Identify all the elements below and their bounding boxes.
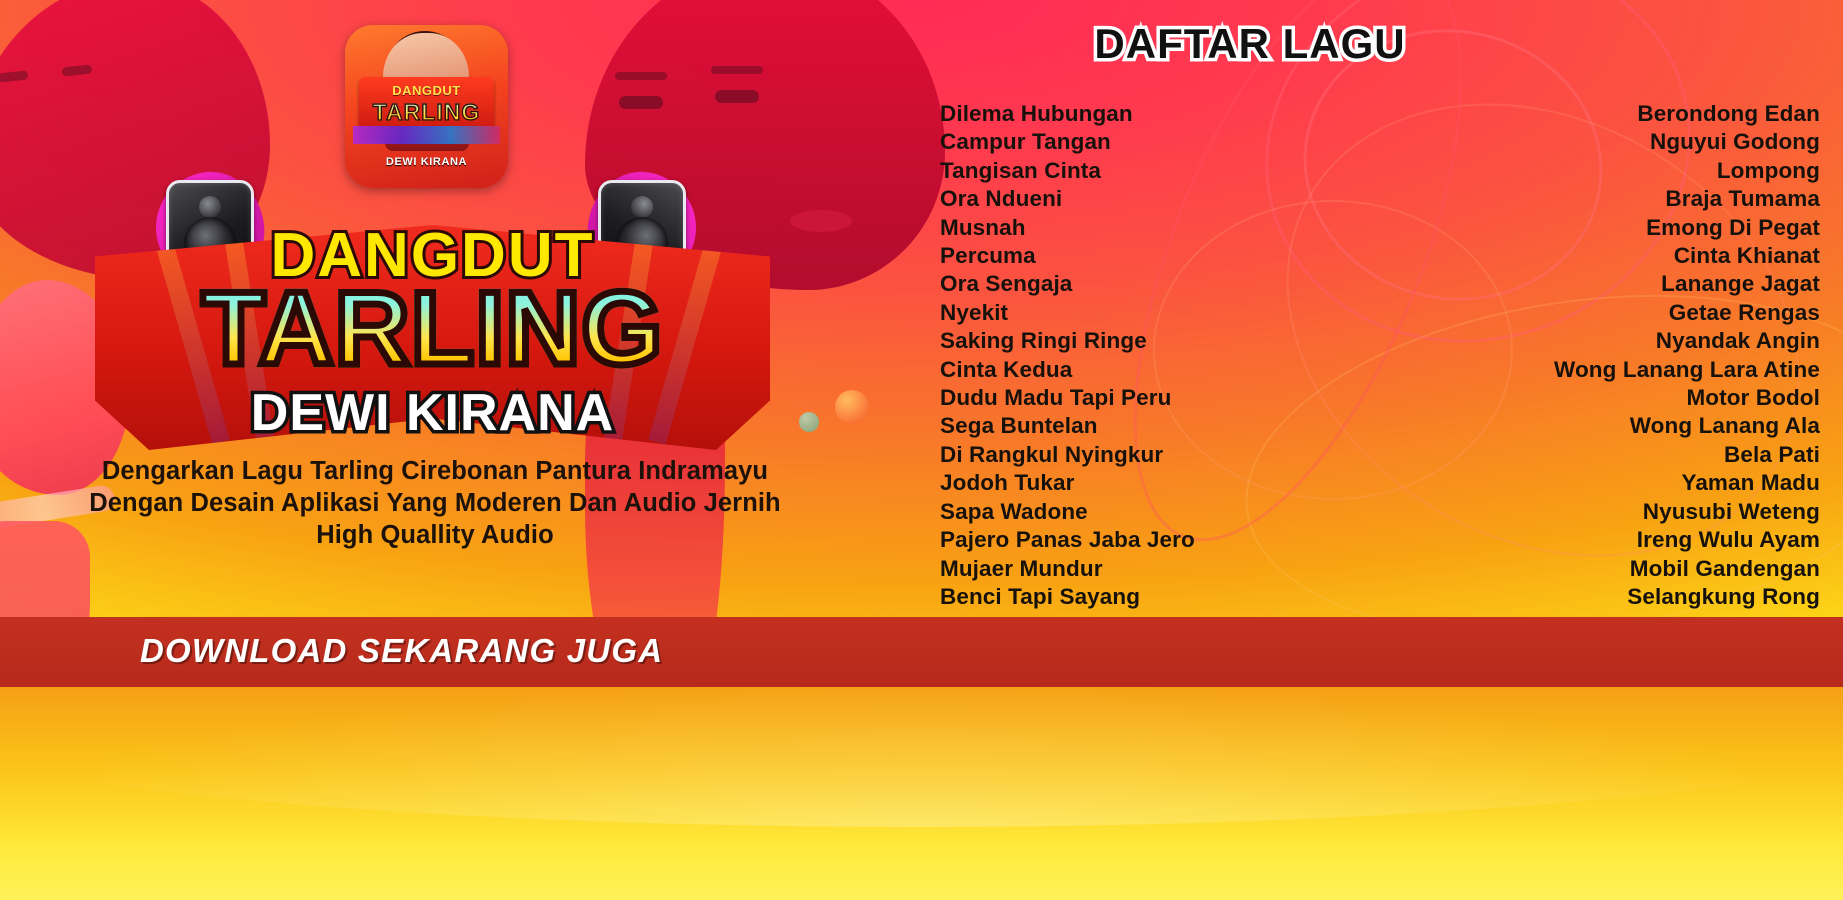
song-list-item: Braja Tumama	[1380, 185, 1820, 213]
description-line-3: High Quallity Audio	[20, 519, 850, 551]
bottom-gradient	[0, 687, 1843, 900]
logo-title-tarling: TARLING	[95, 277, 770, 381]
song-list-item: Emong Di Pegat	[1380, 214, 1820, 242]
song-list-item: Getae Rengas	[1380, 299, 1820, 327]
app-promo-banner: DANGDUT TARLING DEWI KIRANA DANGDUT TARL…	[0, 0, 1843, 900]
song-list-item: Pajero Panas Jaba Jero	[940, 526, 1340, 554]
song-list-item: Sega Buntelan	[940, 412, 1340, 440]
speaker-tweeter	[631, 196, 653, 218]
song-list-item: Ora Ndueni	[940, 185, 1340, 213]
model-lips	[790, 210, 852, 232]
model-eye	[0, 70, 28, 82]
model-eyebrow	[711, 66, 763, 74]
app-icon-line1: DANGDUT	[345, 83, 508, 98]
description-line-1: Dengarkan Lagu Tarling Cirebonan Pantura…	[20, 455, 850, 487]
song-list-item: Nyekit	[940, 299, 1340, 327]
song-list-item: Jodoh Tukar	[940, 469, 1340, 497]
song-list-item: Nguyui Godong	[1380, 128, 1820, 156]
song-list-item: Percuma	[940, 242, 1340, 270]
song-list-item: Cinta Kedua	[940, 356, 1340, 384]
song-list-item: Lanange Jagat	[1380, 270, 1820, 298]
song-list: Dilema HubunganCampur TanganTangisan Cin…	[900, 100, 1830, 620]
song-list-item: Wong Lanang Lara Atine	[1380, 356, 1820, 384]
song-list-item: Nyandak Angin	[1380, 327, 1820, 355]
app-icon-line2: TARLING	[345, 99, 508, 126]
model-eye	[62, 64, 93, 76]
model-eye	[619, 96, 663, 109]
song-list-item: Ireng Wulu Ayam	[1380, 526, 1820, 554]
song-list-item: Mobil Gandengan	[1380, 555, 1820, 583]
song-list-item: Ora Sengaja	[940, 270, 1340, 298]
song-list-item: Berondong Edan	[1380, 100, 1820, 128]
download-cta-label[interactable]: DOWNLOAD SEKARANG JUGA	[140, 632, 663, 670]
model-pendant	[799, 412, 819, 432]
speaker-tweeter	[199, 196, 221, 218]
app-icon[interactable]: DANGDUT TARLING DEWI KIRANA	[345, 25, 508, 188]
song-list-item: Bela Pati	[1380, 441, 1820, 469]
song-list-right-column: Berondong EdanNguyui GodongLompongBraja …	[1380, 100, 1820, 611]
song-list-title: DAFTAR LAGU	[1040, 20, 1460, 68]
song-list-item: Nyusubi Weteng	[1380, 498, 1820, 526]
description-block: Dengarkan Lagu Tarling Cirebonan Pantura…	[20, 455, 850, 551]
song-list-item: Dudu Madu Tapi Peru	[940, 384, 1340, 412]
song-list-item: Yaman Madu	[1380, 469, 1820, 497]
song-list-item: Wong Lanang Ala	[1380, 412, 1820, 440]
song-list-item: Musnah	[940, 214, 1340, 242]
bottom-wave	[0, 567, 1843, 827]
song-list-item: Saking Ringi Ringe	[940, 327, 1340, 355]
app-icon-color-band	[353, 126, 500, 144]
song-list-item: Lompong	[1380, 157, 1820, 185]
song-list-item: Tangisan Cinta	[940, 157, 1340, 185]
song-list-item: Di Rangkul Nyingkur	[940, 441, 1340, 469]
app-icon-line3: DEWI KIRANA	[345, 156, 508, 168]
song-list-item: Motor Bodol	[1380, 384, 1820, 412]
logo-title-dewi-kirana: DEWI KIRANA	[95, 383, 770, 443]
song-list-item: Campur Tangan	[940, 128, 1340, 156]
model-eye	[715, 90, 759, 103]
song-list-item: Cinta Khianat	[1380, 242, 1820, 270]
model-pendant	[835, 390, 869, 424]
song-list-item: Dilema Hubungan	[940, 100, 1340, 128]
song-list-item: Sapa Wadone	[940, 498, 1340, 526]
model-eyebrow	[615, 72, 667, 80]
description-line-2: Dengan Desain Aplikasi Yang Moderen Dan …	[20, 487, 850, 519]
song-list-left-column: Dilema HubunganCampur TanganTangisan Cin…	[940, 100, 1340, 611]
logo-block: DANGDUT TARLING DEWI KIRANA	[95, 225, 770, 450]
